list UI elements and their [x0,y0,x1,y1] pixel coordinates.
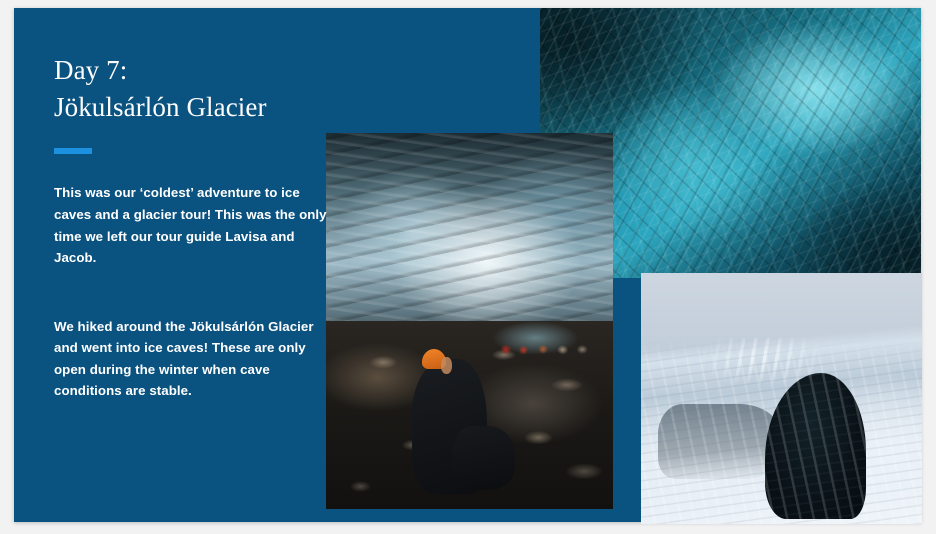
text-column: Day 7: Jökulsárlón Glacier This was our … [54,52,339,402]
accent-bar [54,148,92,154]
page-title: Day 7: Jökulsárlón Glacier [54,52,339,125]
ice-cave-interior-photo[interactable] [326,133,613,509]
glacier-cave-entrance-photo[interactable] [641,273,922,524]
seated-person-legs [452,426,515,490]
snow-texture-layer [641,273,922,524]
person-face [441,357,452,374]
cave-figures-layer [326,133,613,509]
body-paragraph-1: This was our ‘coldest’ adventure to ice … [54,182,339,268]
body-paragraph-2: We hiked around the Jökulsárlón Glacier … [54,316,339,402]
distant-tour-group [498,342,596,357]
slide: Day 7: Jökulsárlón Glacier This was our … [14,8,921,522]
